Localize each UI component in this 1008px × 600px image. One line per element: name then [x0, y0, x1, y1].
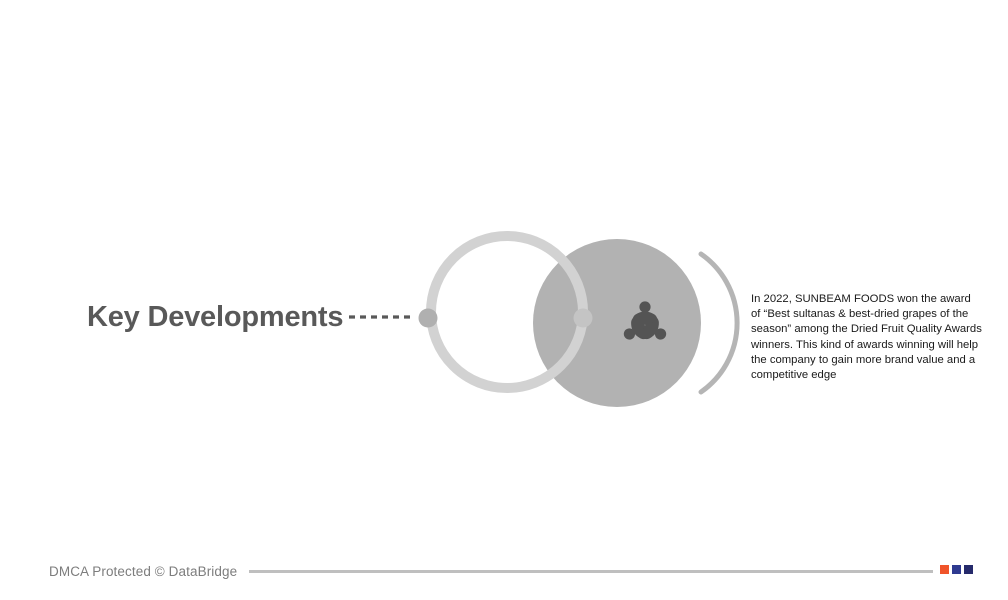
footer-copyright: DMCA Protected © DataBridge: [49, 564, 237, 579]
footer-divider: [249, 570, 933, 573]
square-orange: [940, 565, 949, 574]
slide-canvas: Key Developments: [0, 0, 1008, 600]
ring-right-node: [574, 309, 593, 328]
developments-paragraph: In 2022, SUNBEAM FOODS won the award of …: [751, 292, 983, 383]
filled-circle: [533, 239, 701, 407]
page-title: Key Developments: [87, 298, 343, 336]
key-developments-graphic: [405, 218, 745, 423]
footer-logo-squares: [940, 565, 974, 575]
square-blue: [952, 565, 961, 574]
ring-left-node: [419, 309, 438, 328]
square-navy: [964, 565, 973, 574]
accent-arc: [701, 254, 737, 392]
